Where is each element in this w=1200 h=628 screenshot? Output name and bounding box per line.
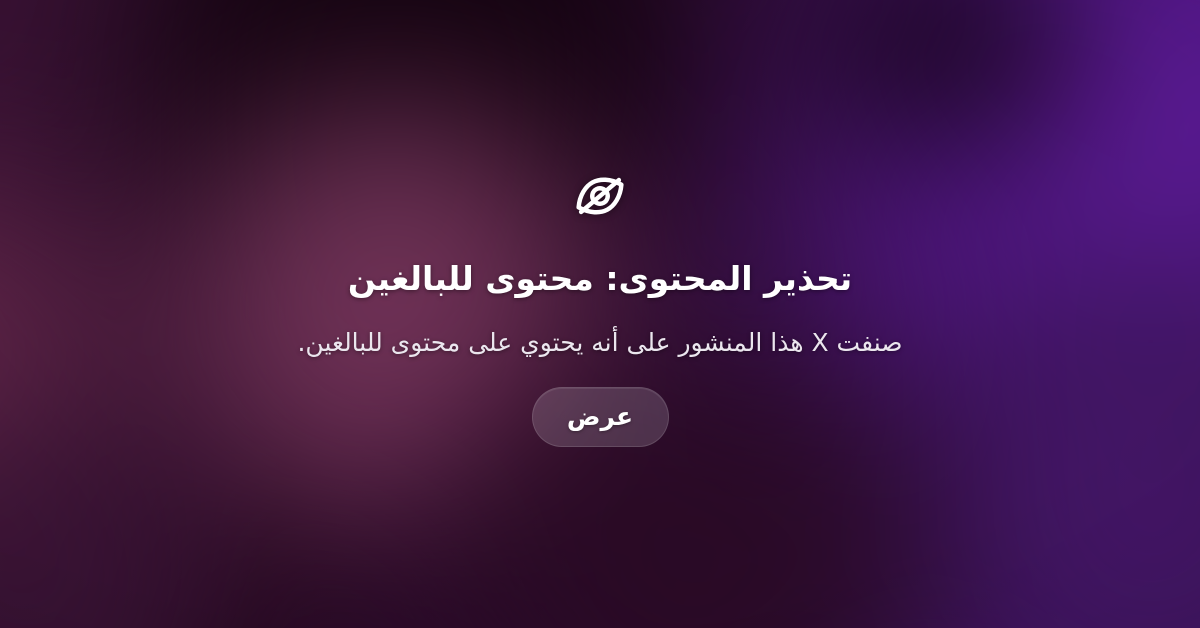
content-warning-screen: تحذير المحتوى: محتوى للبالغين صنفت X هذا… bbox=[0, 0, 1200, 628]
page-title: تحذير المحتوى: محتوى للبالغين bbox=[348, 259, 852, 300]
view-button[interactable]: عرض bbox=[532, 387, 669, 447]
eye-off-icon bbox=[569, 165, 631, 227]
content-warning-card: تحذير المحتوى: محتوى للبالغين صنفت X هذا… bbox=[220, 165, 980, 446]
content-warning-overlay: تحذير المحتوى: محتوى للبالغين صنفت X هذا… bbox=[0, 0, 1200, 628]
warning-description: صنفت X هذا المنشور على أنه يحتوي على محت… bbox=[297, 326, 902, 361]
